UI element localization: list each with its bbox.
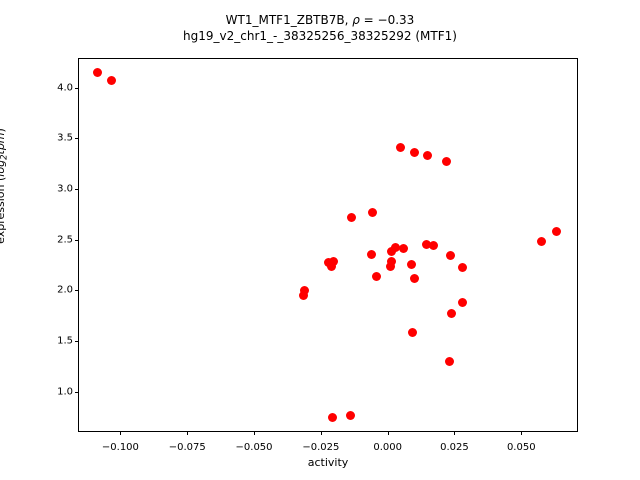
x-axis-tick-label: −0.075 — [169, 442, 206, 453]
data-point — [368, 208, 377, 217]
x-axis-tick-label: 0.050 — [507, 442, 536, 453]
y-axis-tick-label: 2.0 — [57, 285, 73, 296]
data-point — [407, 260, 416, 269]
data-point — [372, 272, 381, 281]
y-axis-label-math-sub: 2 — [0, 155, 9, 160]
y-axis-tick-mark — [75, 392, 79, 393]
y-axis-tick-mark — [75, 290, 79, 291]
x-axis-tick-label: −0.025 — [302, 442, 339, 453]
data-point — [423, 151, 432, 160]
x-axis-tick-mark — [254, 431, 255, 435]
plot-data-area — [79, 59, 577, 431]
x-axis-tick-mark — [454, 431, 455, 435]
y-axis-tick-mark — [75, 138, 79, 139]
y-axis-tick-label: 2.5 — [57, 234, 73, 245]
x-axis-tick-label: 0.025 — [440, 442, 469, 453]
data-point — [537, 237, 546, 246]
data-point — [346, 411, 355, 420]
x-axis-tick-mark — [388, 431, 389, 435]
y-axis-tick-label: 3.0 — [57, 183, 73, 194]
x-axis-tick-mark — [521, 431, 522, 435]
data-point — [327, 262, 336, 271]
y-axis-tick-label: 4.0 — [57, 82, 73, 93]
x-axis-tick-label: −0.100 — [102, 442, 139, 453]
y-axis-tick-mark — [75, 189, 79, 190]
y-axis-label-suffix: ) — [0, 128, 7, 132]
y-axis-tick-label: 3.5 — [57, 133, 73, 144]
x-axis-tick-label: −0.050 — [236, 442, 273, 453]
data-point — [328, 413, 337, 422]
data-point — [552, 227, 561, 236]
data-point — [429, 241, 438, 250]
data-point — [399, 244, 408, 253]
y-axis-tick-mark — [75, 341, 79, 342]
data-point — [410, 148, 419, 157]
x-axis-tick-mark — [187, 431, 188, 435]
data-point — [446, 251, 455, 260]
data-point — [447, 309, 456, 318]
y-axis-label-math-unit: tpm — [0, 132, 7, 154]
data-point — [107, 76, 116, 85]
chart-title-line-1: WT1_MTF1_ZBTB7B, ρ = −0.33 — [0, 12, 640, 28]
data-point — [386, 262, 395, 271]
data-point — [445, 357, 454, 366]
data-point — [442, 157, 451, 166]
plot-axes-frame: −0.100−0.075−0.050−0.0250.0000.0250.050 … — [78, 58, 578, 432]
data-point — [299, 291, 308, 300]
rho-value: = −0.33 — [360, 13, 414, 27]
y-axis-tick-mark — [75, 88, 79, 89]
data-point — [93, 68, 102, 77]
y-axis-label-prefix: expression ( — [0, 177, 7, 244]
data-point — [396, 143, 405, 152]
x-axis-tick-mark — [321, 431, 322, 435]
y-axis-tick-label: 1.0 — [57, 386, 73, 397]
data-point — [458, 263, 467, 272]
scatter-plot-figure: WT1_MTF1_ZBTB7B, ρ = −0.33 hg19_v2_chr1_… — [0, 0, 640, 480]
data-point — [347, 213, 356, 222]
y-axis-tick-label: 1.5 — [57, 335, 73, 346]
x-axis-tick-mark — [120, 431, 121, 435]
y-axis-label: expression (log2tpm) — [0, 56, 9, 316]
chart-title: WT1_MTF1_ZBTB7B, ρ = −0.33 hg19_v2_chr1_… — [0, 12, 640, 44]
data-point — [458, 298, 467, 307]
x-axis-tick-label: 0.000 — [373, 442, 402, 453]
data-point — [408, 328, 417, 337]
x-axis-label: activity — [78, 456, 578, 469]
chart-title-gene-label: WT1_MTF1_ZBTB7B, — [226, 13, 353, 27]
chart-subtitle: hg19_v2_chr1_-_38325256_38325292 (MTF1) — [0, 28, 640, 44]
data-point — [410, 274, 419, 283]
y-axis-tick-mark — [75, 240, 79, 241]
rho-symbol: ρ — [352, 13, 360, 27]
data-point — [367, 250, 376, 259]
y-axis-label-math-base: log — [0, 160, 7, 177]
